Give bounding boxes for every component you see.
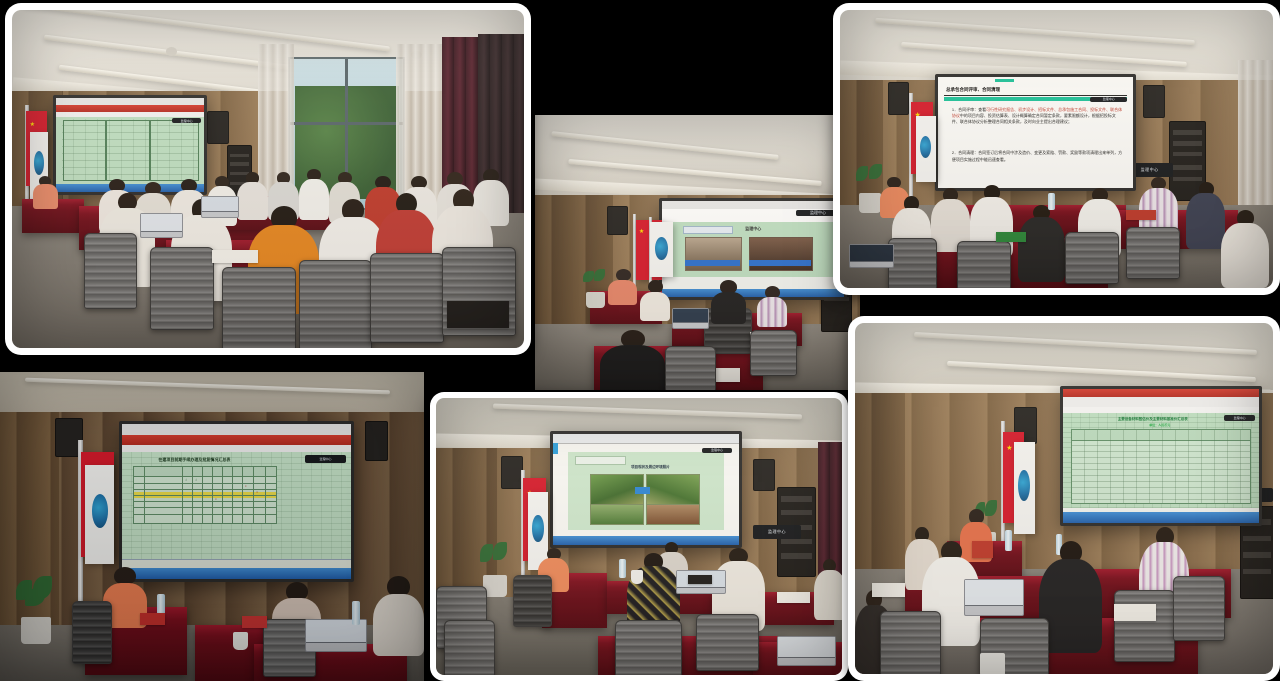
slide-bullet-1: 1．合同评审：查看可行性研究报告、初步设计、招标文件、总承包施工合同、投标文件、… xyxy=(952,107,1123,126)
photo-top-middle: 监理中心 监理中心 监理中心 xyxy=(535,115,860,390)
photo-bottom-middle: 监理中心 项目现状及周边环境照片 监理中心 xyxy=(436,398,842,675)
photo-bottom-right: 监理中心 主要设备材料暂估价及主要材料基准价汇总表 单位：人民币元 xyxy=(855,323,1273,674)
collage-panel-bottom-right[interactable]: 监理中心 主要设备材料暂估价及主要材料基准价汇总表 单位：人民币元 xyxy=(848,316,1280,681)
sheet-subtitle: 单位：人民币元 xyxy=(1149,423,1170,427)
organization-flag xyxy=(916,116,935,183)
potted-plant xyxy=(13,576,60,644)
wall-speaker xyxy=(207,111,229,143)
organization-flag xyxy=(650,222,673,277)
screen-corner-tag: 监理中心 xyxy=(1090,97,1127,102)
collage-panel-top-right[interactable]: 监理中心 总承包合同评审、合同清理 监理中心 1．合同评审：查看可行性研究报告、… xyxy=(833,3,1280,295)
projection-screen: 项目现状及周边环境照片 监理中心 xyxy=(550,431,743,548)
screen-corner-tag: 监理中心 xyxy=(1224,415,1255,422)
slide-title: 总承包合同评审、合同清理 xyxy=(946,87,1000,93)
sheet-title: 主要设备材料暂估价及主要材料基准价汇总表 xyxy=(1118,417,1188,422)
photo-top-right: 监理中心 总承包合同评审、合同清理 监理中心 1．合同评审：查看可行性研究报告、… xyxy=(840,10,1273,288)
projection-screen: 主要设备材料暂估价及主要材料基准价汇总表 单位：人民币元 监理中心 xyxy=(1060,386,1262,525)
ceiling-speaker xyxy=(607,206,629,236)
organization-flag xyxy=(85,465,115,564)
projection-screen: 在建项目前期手续办理及批复情况汇总表 xyxy=(119,421,354,582)
projection-screen: 总承包合同评审、合同清理 监理中心 1．合同评审：查看可行性研究报告、初步设计、… xyxy=(935,74,1136,191)
screen-corner-tag: 监理中心 xyxy=(305,455,346,463)
ceiling-speaker-right xyxy=(365,421,388,460)
collage-panel-bottom-middle[interactable]: 监理中心 项目现状及周边环境照片 监理中心 xyxy=(430,392,848,681)
slide-caption: 监理中心 xyxy=(745,226,761,232)
photo-bottom-left: 在建项目前期手续办理及批复情况汇总表 xyxy=(0,372,424,681)
laptop xyxy=(964,579,1025,616)
screen-corner-tag: 监理中心 xyxy=(702,448,732,454)
photo-top-left: 监理中心 ★ xyxy=(12,10,524,348)
slide-accent-bar xyxy=(995,79,1014,82)
sheet-title: 在建项目前期手续办理及批复情况汇总表 xyxy=(158,457,230,463)
collage-panel-bottom-left[interactable]: 在建项目前期手续办理及批复情况汇总表 xyxy=(0,372,424,681)
laptop xyxy=(777,636,836,666)
photo-collage: 监理中心 监理中心 监理中心 xyxy=(0,0,1280,681)
slide-caption: 项目现状及周边环境照片 xyxy=(631,465,670,470)
rack-sign: 监理中心 xyxy=(753,525,802,539)
projection-screen: 监理中心 监理中心 xyxy=(659,198,847,300)
organization-flag xyxy=(1014,442,1035,533)
screen-corner-tag: 监理中心 xyxy=(172,118,202,123)
collage-panel-top-left[interactable]: 监理中心 ★ xyxy=(5,3,531,355)
slide-bullet-2: 2．合同清理：合同签订后将合同中涉及造价、变更及索赔、罚款、奖励等款项清理出来单… xyxy=(952,150,1123,162)
collage-panel-top-middle[interactable]: 监理中心 监理中心 监理中心 xyxy=(535,115,860,390)
